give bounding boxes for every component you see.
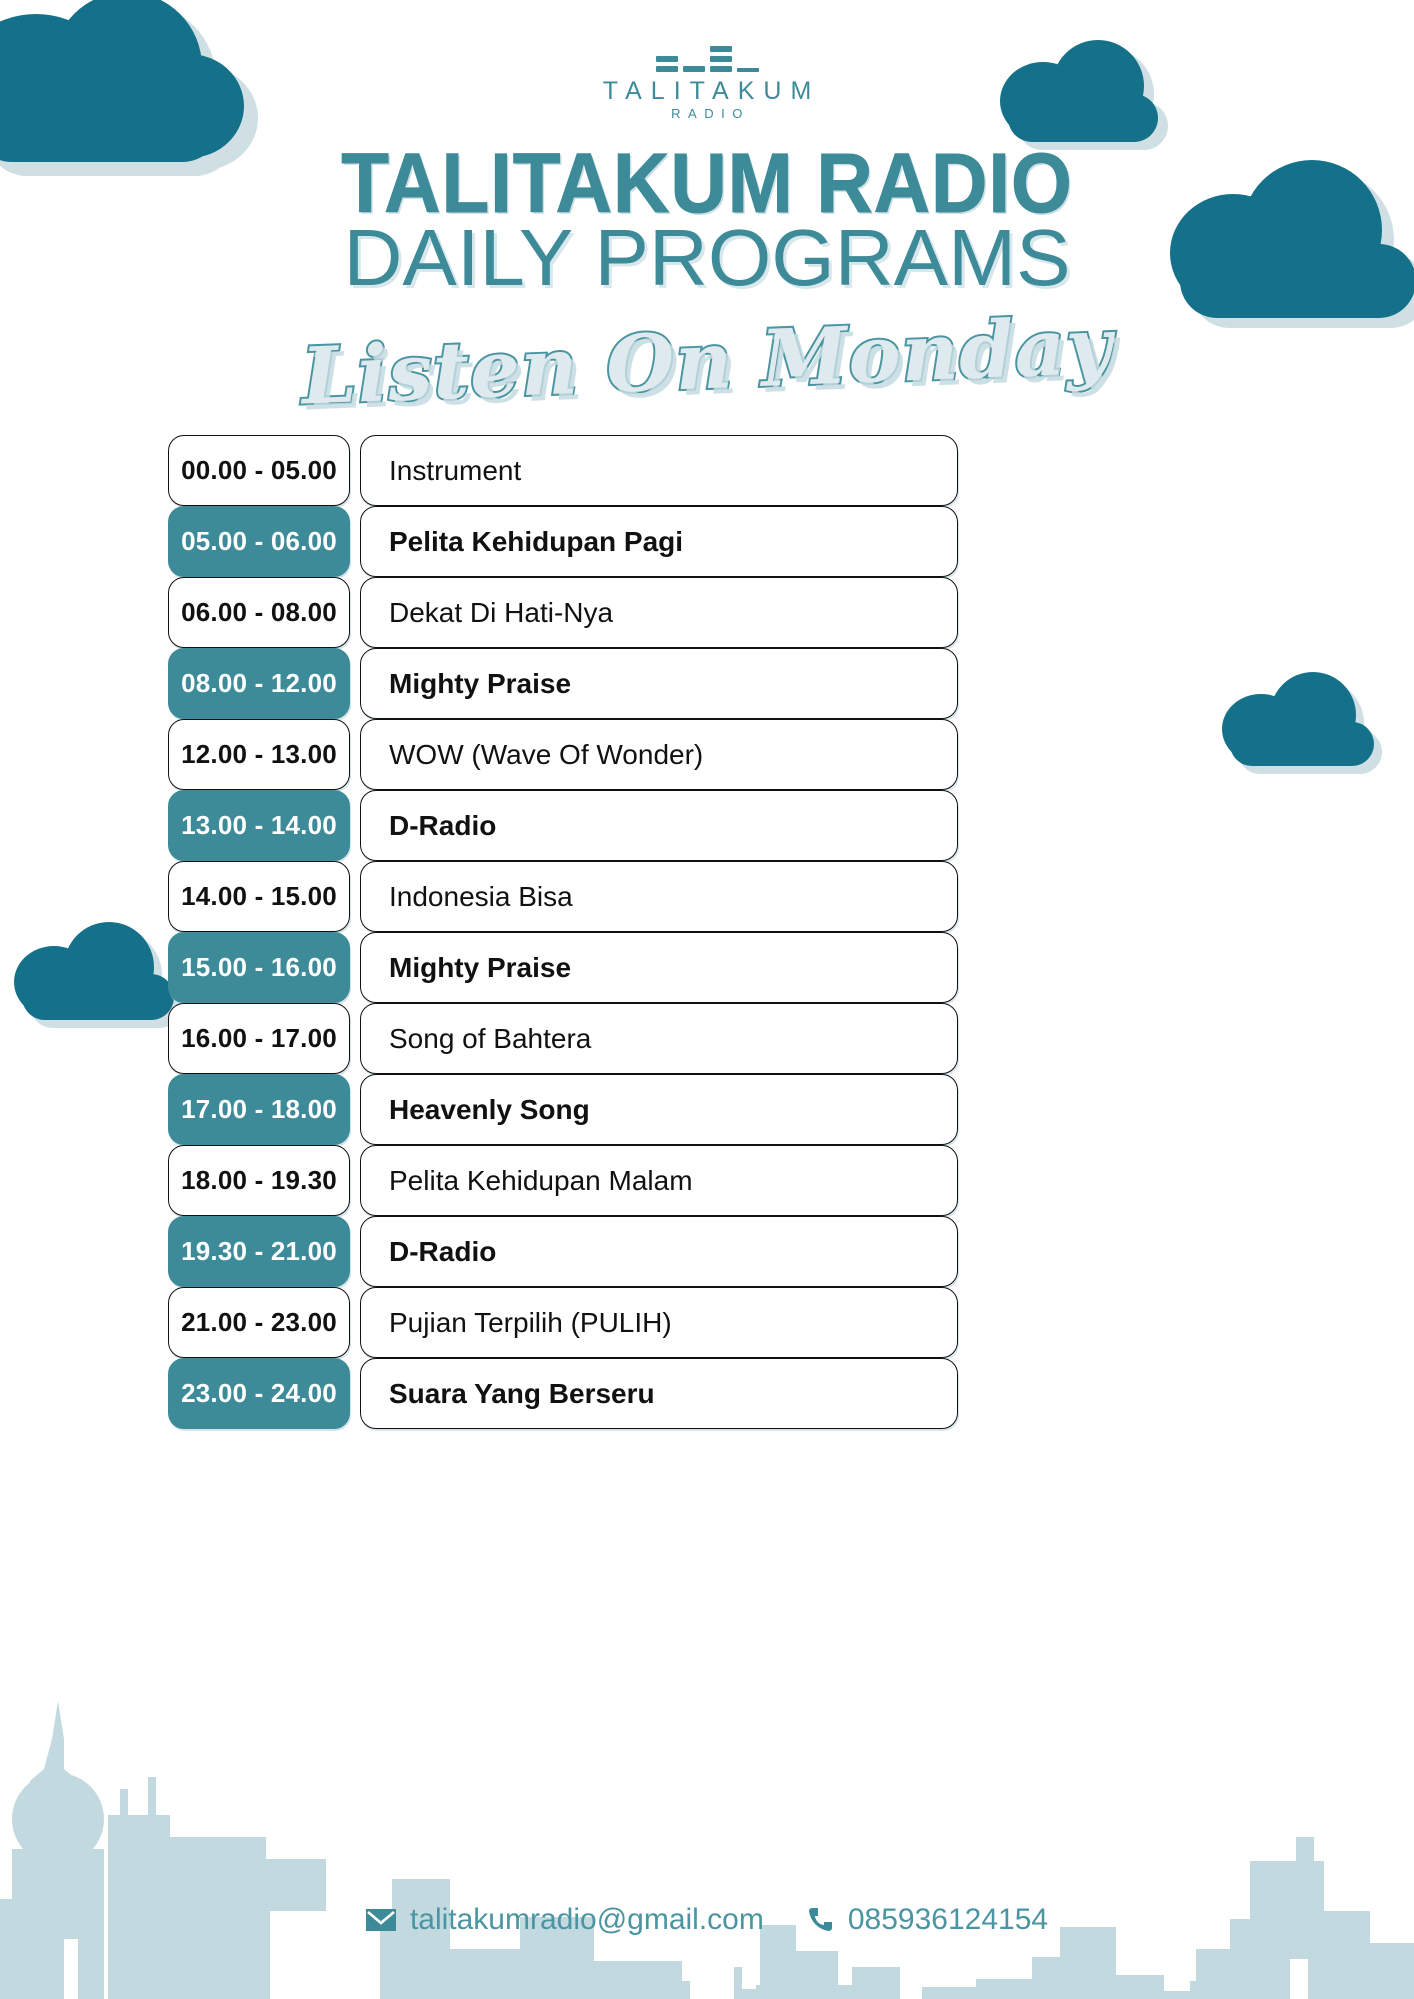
schedule-program: WOW (Wave Of Wonder) xyxy=(360,719,958,790)
schedule-program: Pujian Terpilih (PULIH) xyxy=(360,1287,958,1358)
schedule-program: Dekat Di Hati-Nya xyxy=(360,577,958,648)
schedule-time: 06.00 - 08.00 xyxy=(168,577,350,648)
schedule-row: 17.00 - 18.00Heavenly Song xyxy=(168,1074,958,1145)
schedule-row: 06.00 - 08.00Dekat Di Hati-Nya xyxy=(168,577,958,648)
schedule-time: 08.00 - 12.00 xyxy=(168,648,350,719)
schedule-row: 21.00 - 23.00Pujian Terpilih (PULIH) xyxy=(168,1287,958,1358)
contact-footer: talitakumradio@gmail.com 085936124154 xyxy=(0,1903,1414,1937)
schedule-row: 08.00 - 12.00Mighty Praise xyxy=(168,648,958,719)
schedule-program: Instrument xyxy=(360,435,958,506)
contact-phone-text: 085936124154 xyxy=(848,1903,1048,1937)
schedule-program: Pelita Kehidupan Malam xyxy=(360,1145,958,1216)
schedule-row: 23.00 - 24.00Suara Yang Berseru xyxy=(168,1358,958,1429)
schedule-row: 18.00 - 19.30Pelita Kehidupan Malam xyxy=(168,1145,958,1216)
schedule-time: 00.00 - 05.00 xyxy=(168,435,350,506)
schedule-program: Suara Yang Berseru xyxy=(360,1358,958,1429)
script-tagline: Listen On Monday xyxy=(0,289,1414,434)
schedule-program: Pelita Kehidupan Pagi xyxy=(360,506,958,577)
schedule-program: Mighty Praise xyxy=(360,932,958,1003)
poster-canvas: TALITAKUM RADIO TALITAKUM RADIO DAILY PR… xyxy=(0,0,1414,1999)
brand-logo-sub: RADIO xyxy=(664,106,750,121)
schedule-row: 00.00 - 05.00Instrument xyxy=(168,435,958,506)
schedule-row: 19.30 - 21.00D-Radio xyxy=(168,1216,958,1287)
schedule-program: D-Radio xyxy=(360,790,958,861)
page-subtitle: DAILY PROGRAMS xyxy=(0,212,1414,304)
schedule-time: 19.30 - 21.00 xyxy=(168,1216,350,1287)
schedule-time: 13.00 - 14.00 xyxy=(168,790,350,861)
schedule-row: 16.00 - 17.00Song of Bahtera xyxy=(168,1003,958,1074)
schedule-program: D-Radio xyxy=(360,1216,958,1287)
schedule-row: 05.00 - 06.00Pelita Kehidupan Pagi xyxy=(168,506,958,577)
cloud-mid-left xyxy=(14,922,182,1022)
phone-icon xyxy=(806,1906,834,1934)
schedule-list: 00.00 - 05.00Instrument05.00 - 06.00Peli… xyxy=(168,435,958,1429)
cloud-mid-right xyxy=(1222,672,1382,768)
contact-phone[interactable]: 085936124154 xyxy=(806,1903,1048,1937)
contact-email-text: talitakumradio@gmail.com xyxy=(410,1903,764,1937)
schedule-time: 12.00 - 13.00 xyxy=(168,719,350,790)
schedule-program: Heavenly Song xyxy=(360,1074,958,1145)
schedule-time: 16.00 - 17.00 xyxy=(168,1003,350,1074)
schedule-time: 23.00 - 24.00 xyxy=(168,1358,350,1429)
contact-email[interactable]: talitakumradio@gmail.com xyxy=(366,1903,764,1937)
schedule-time: 21.00 - 23.00 xyxy=(168,1287,350,1358)
schedule-row: 14.00 - 15.00Indonesia Bisa xyxy=(168,861,958,932)
equalizer-icon xyxy=(656,42,759,72)
schedule-time: 15.00 - 16.00 xyxy=(168,932,350,1003)
schedule-program: Mighty Praise xyxy=(360,648,958,719)
schedule-row: 13.00 - 14.00D-Radio xyxy=(168,790,958,861)
schedule-time: 17.00 - 18.00 xyxy=(168,1074,350,1145)
schedule-program: Indonesia Bisa xyxy=(360,861,958,932)
brand-logo: TALITAKUM RADIO xyxy=(0,42,1414,121)
schedule-program: Song of Bahtera xyxy=(360,1003,958,1074)
schedule-row: 15.00 - 16.00Mighty Praise xyxy=(168,932,958,1003)
schedule-time: 05.00 - 06.00 xyxy=(168,506,350,577)
schedule-time: 14.00 - 15.00 xyxy=(168,861,350,932)
brand-logo-name: TALITAKUM xyxy=(594,78,821,104)
envelope-icon xyxy=(366,1909,396,1931)
schedule-time: 18.00 - 19.30 xyxy=(168,1145,350,1216)
schedule-row: 12.00 - 13.00WOW (Wave Of Wonder) xyxy=(168,719,958,790)
